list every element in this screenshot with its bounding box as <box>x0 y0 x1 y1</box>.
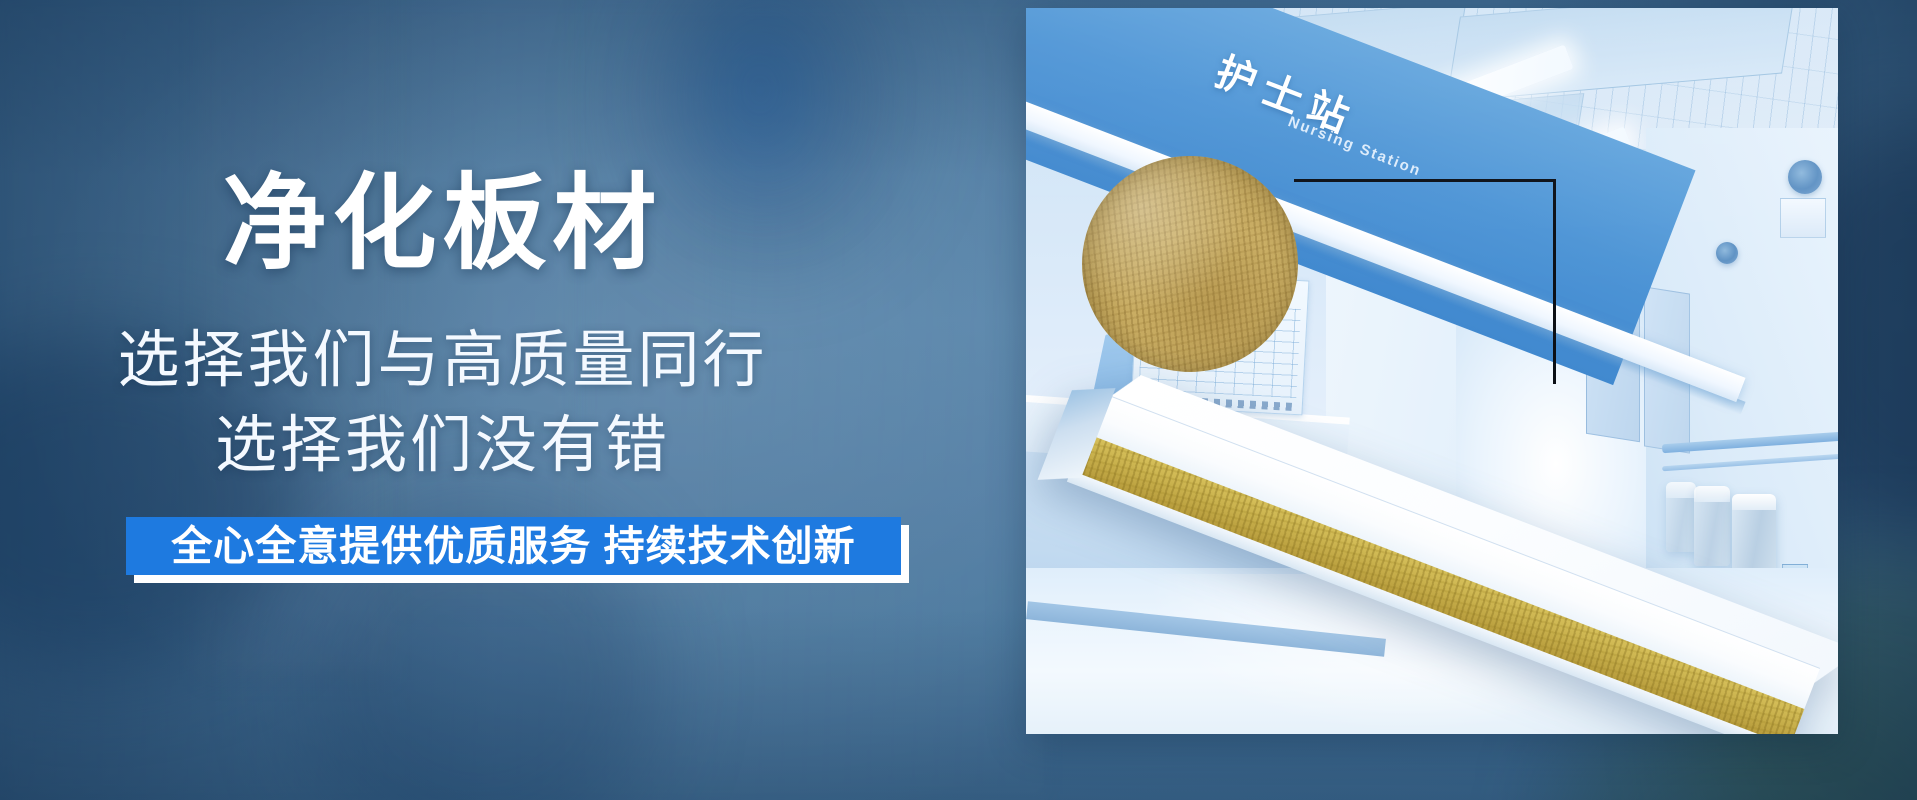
callout-line-horizontal <box>1294 179 1556 182</box>
photo-bin-lid-2 <box>1694 486 1730 502</box>
photo-wall-box <box>1780 198 1826 238</box>
photo-waste-bin-2 <box>1694 486 1730 566</box>
photo-wall-fan-small <box>1716 242 1738 264</box>
photo-wall-fan <box>1788 160 1822 194</box>
subtitle-line-1: 选择我们与高质量同行 <box>0 324 885 398</box>
photo-waste-bin-3 <box>1666 482 1696 552</box>
subtitle-line-2: 选择我们没有错 <box>0 409 885 483</box>
tagline-banner: 全心全意提供优质服务 持续技术创新 <box>126 517 901 575</box>
product-hero-banner: 净化板材 选择我们与高质量同行 选择我们没有错 全心全意提供优质服务 持续技术创… <box>0 0 1917 800</box>
photo-bin-lid-3 <box>1666 482 1696 498</box>
rock-wool-detail-circle <box>1082 156 1298 372</box>
photo-bin-lid-1 <box>1732 494 1776 510</box>
tagline-bar: 全心全意提供优质服务 持续技术创新 <box>126 517 901 575</box>
product-photo: 考勤表 护士站 Nursing Station <box>1026 8 1838 734</box>
tagline-text: 全心全意提供优质服务 持续技术创新 <box>171 524 855 568</box>
page-title: 净化板材 <box>0 168 885 280</box>
hero-copy-block: 净化板材 选择我们与高质量同行 选择我们没有错 全心全意提供优质服务 持续技术创… <box>0 0 1010 800</box>
callout-line-vertical <box>1553 179 1556 384</box>
